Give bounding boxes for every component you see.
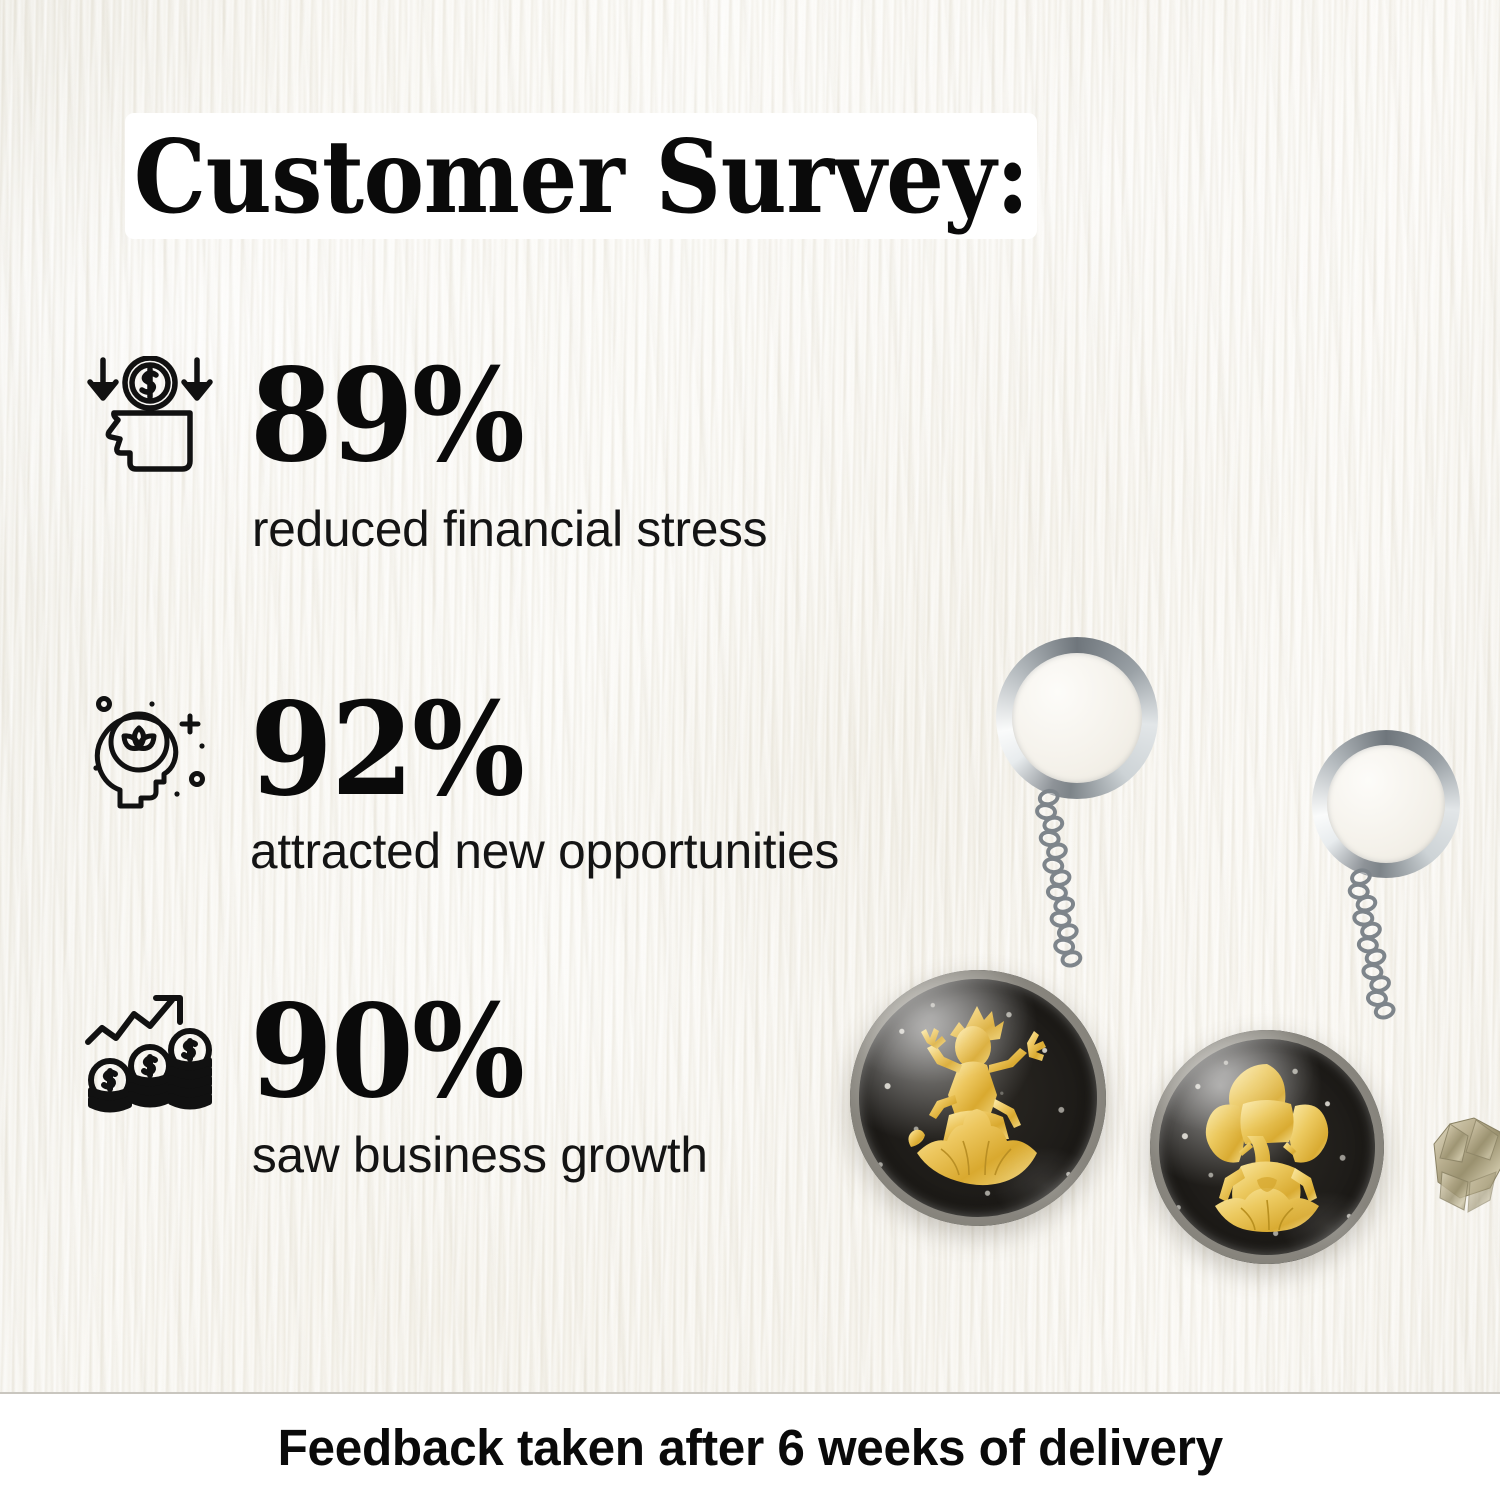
ganesha-pendant (1150, 1030, 1384, 1264)
pendant-resin-rim (1150, 1030, 1384, 1264)
stat-value: 92% (250, 686, 523, 814)
stat-label: reduced financial stress (252, 504, 767, 554)
page-title: Customer Survey: (133, 126, 1028, 227)
lakshmi-pendant (850, 970, 1106, 1226)
pyrite-crystal-icon (1432, 1110, 1500, 1230)
stat-label: attracted new opportunities (250, 826, 839, 876)
stat-label: saw business growth (252, 1130, 708, 1180)
key-ring-inner-edge (1327, 745, 1445, 863)
pendant-resin-rim (850, 970, 1106, 1226)
footer-note: Feedback taken after 6 weeks of delivery (277, 1418, 1222, 1477)
footer-bar: Feedback taken after 6 weeks of delivery (0, 1392, 1500, 1500)
growth-chart-coins-icon (84, 994, 216, 1119)
title-card: Customer Survey: (125, 113, 1037, 239)
ganesha-keychain (1100, 700, 1500, 1400)
infographic-canvas: Customer Survey: 89% reduced fin (0, 0, 1500, 1500)
stat-value: 89% (250, 352, 523, 480)
mindful-head-lotus-icon (84, 694, 216, 819)
stat-value: 90% (250, 988, 523, 1116)
money-out-of-head-icon (84, 356, 216, 481)
product-photo-group (800, 600, 1500, 1400)
